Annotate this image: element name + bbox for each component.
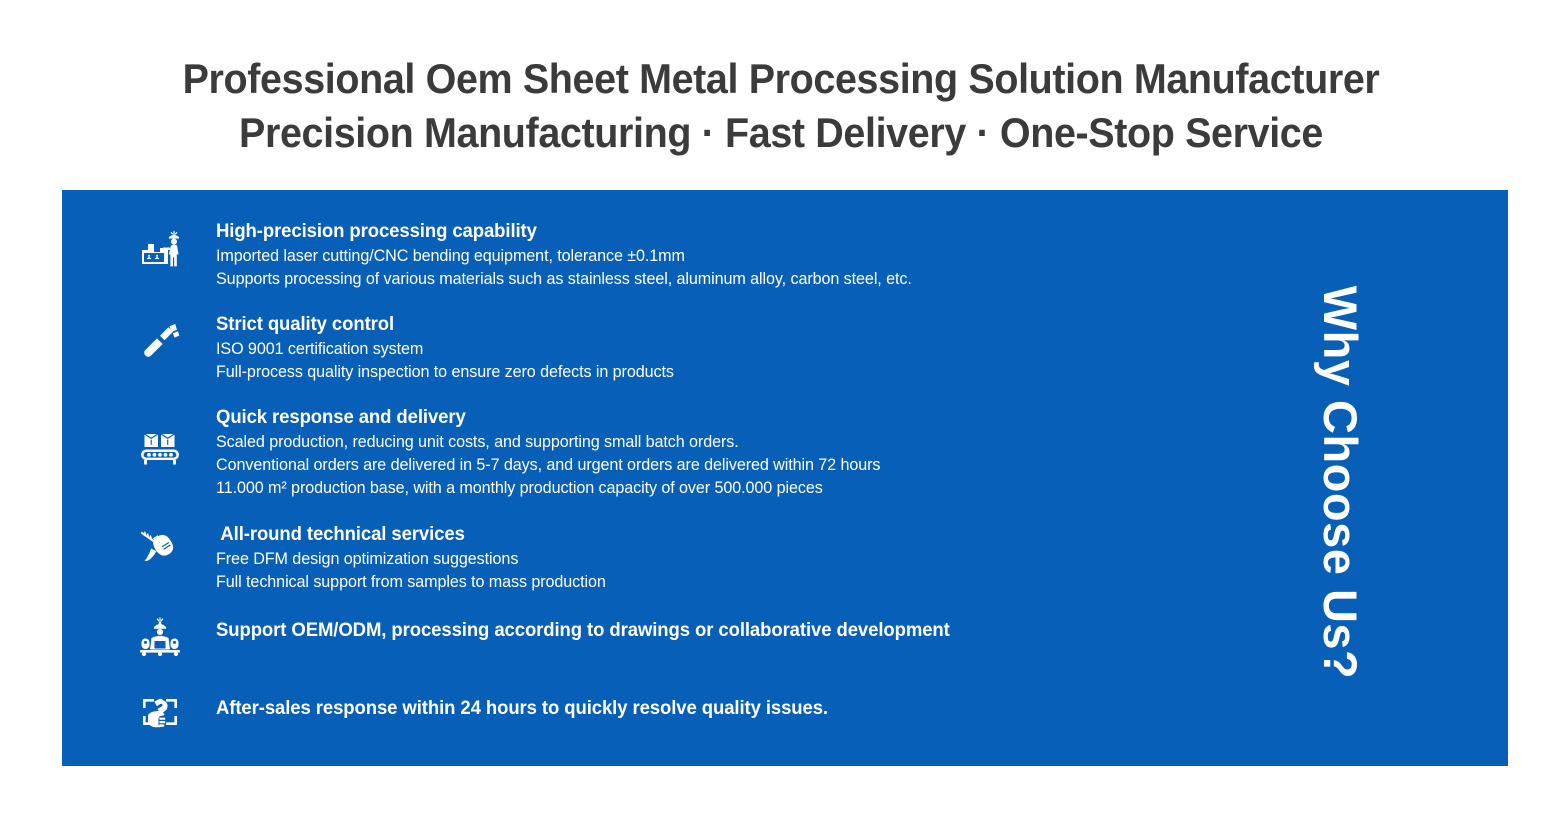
feature-text-block: High-precision processing capability Imp… (216, 218, 948, 290)
feature-line: Imported laser cutting/CNC bending equip… (216, 244, 912, 267)
why-choose-us-panel: High-precision processing capability Imp… (62, 190, 1508, 766)
feature-text-block: All-round technical services Free DFM de… (216, 521, 626, 593)
power-drill-icon (128, 527, 192, 571)
feature-line: ISO 9001 certification system (216, 337, 674, 360)
feature-title: Strict quality control (216, 311, 674, 337)
feature-item-high-precision: High-precision processing capability Imp… (128, 218, 1258, 290)
why-choose-us-vertical-label: Why Choose Us? (1281, 226, 1401, 738)
feature-title: All-round technical services (216, 521, 606, 547)
page-headline: Professional Oem Sheet Metal Processing … (47, 52, 1515, 160)
feature-text-block: Support OEM/ODM, processing according to… (216, 617, 988, 643)
hammer-tool-icon (128, 319, 192, 363)
why-choose-us-text: Why Choose Us? (1314, 285, 1369, 678)
feature-title: Support OEM/ODM, processing according to… (216, 617, 950, 643)
engineer-blueprint-icon (128, 617, 192, 657)
feature-item-technical-services: All-round technical services Free DFM de… (128, 521, 1258, 593)
feature-line: Scaled production, reducing unit costs, … (216, 430, 880, 453)
feature-title: After-sales response within 24 hours to … (216, 695, 828, 721)
feature-line: Full-process quality inspection to ensur… (216, 360, 674, 383)
headline-line-1: Professional Oem Sheet Metal Processing … (47, 52, 1515, 106)
feature-line: Conventional orders are delivered in 5-7… (216, 453, 880, 476)
feature-item-quality-control: Strict quality control ISO 9001 certific… (128, 311, 1258, 383)
feature-line: Full technical support from samples to m… (216, 570, 606, 593)
feature-title: Quick response and delivery (216, 404, 880, 430)
feature-text-block: Quick response and delivery Scaled produ… (216, 404, 915, 499)
feature-item-oem-odm: Support OEM/ODM, processing according to… (128, 617, 1258, 657)
headline-line-2: Precision Manufacturing · Fast Delivery … (47, 106, 1515, 160)
feature-text-block: Strict quality control ISO 9001 certific… (216, 311, 698, 383)
feature-title: High-precision processing capability (216, 218, 912, 244)
factory-worker-icon (128, 228, 192, 272)
feature-line: Free DFM design optimization suggestions (216, 547, 606, 570)
feature-list: High-precision processing capability Imp… (128, 218, 1258, 735)
feature-line: Supports processing of various materials… (216, 267, 912, 290)
wrench-support-screen-icon (128, 695, 192, 735)
feature-item-quick-delivery: Quick response and delivery Scaled produ… (128, 404, 1258, 499)
feature-text-block: After-sales response within 24 hours to … (216, 695, 860, 721)
feature-item-after-sales: After-sales response within 24 hours to … (128, 695, 1258, 735)
feature-line: 11.000 m² production base, with a monthl… (216, 476, 880, 499)
conveyor-belt-boxes-icon (128, 428, 192, 468)
